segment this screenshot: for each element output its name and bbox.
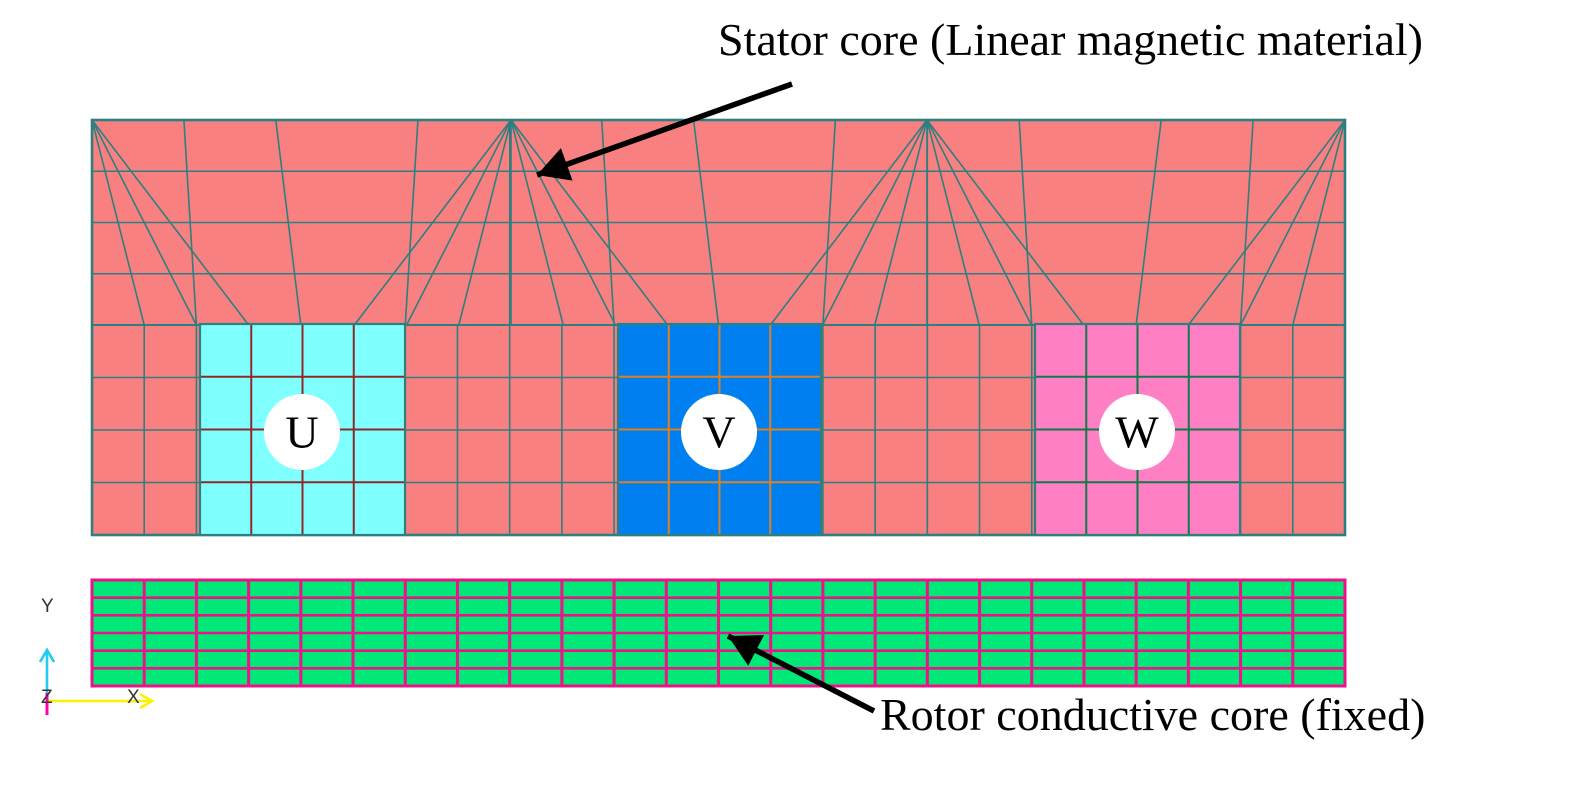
phase-marker-v: V	[681, 394, 757, 470]
figure-canvas: UVW Stator core (Linear magnetic materia…	[0, 0, 1592, 806]
stator-callout-label: Stator core (Linear magnetic material)	[718, 17, 1423, 63]
phase-marker-w: W	[1099, 394, 1175, 470]
phase-marker-label: V	[702, 407, 735, 458]
phase-marker-u: U	[264, 394, 340, 470]
phase-marker-label: U	[285, 407, 318, 458]
fem-mesh-diagram: UVW	[0, 0, 1592, 806]
phase-marker-label: W	[1115, 407, 1159, 458]
axis-label-x: X	[127, 688, 140, 707]
axis-label-y: Y	[41, 597, 54, 616]
rotor-core-mesh	[92, 580, 1345, 686]
axis-label-z: Z	[41, 688, 53, 707]
rotor-callout-label: Rotor conductive core (fixed)	[880, 692, 1425, 738]
